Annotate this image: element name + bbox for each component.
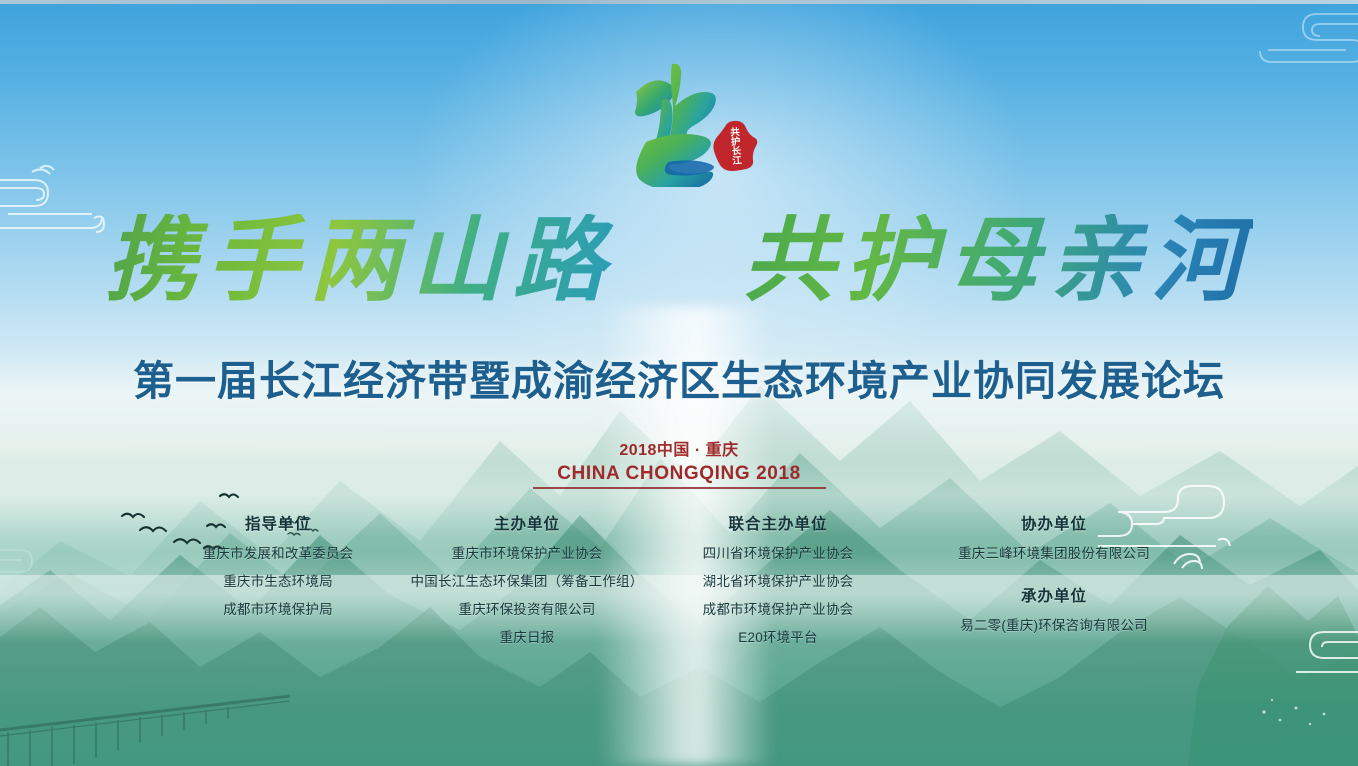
organizer-item: 湖北省环境保护产业协会 [658, 570, 898, 590]
divider-rule [533, 487, 826, 489]
organizer-item: 中国长江生态环保集团（筹备工作组） [408, 570, 646, 590]
bridge [0, 690, 290, 766]
headline-part-2: 共护母亲河 [743, 214, 1253, 306]
organizer-item: 重庆市发展和改革委员会 [160, 542, 396, 562]
organizer-item: 重庆日报 [408, 626, 646, 646]
organizer-heading: 指导单位 [160, 512, 396, 534]
organizer-columns: 指导单位 重庆市发展和改革委员会 重庆市生态环境局 成都市环境保护局 主办单位 … [0, 512, 1358, 642]
date-location-en: CHINA CHONGQING 2018 [0, 463, 1358, 485]
headline-part-1: 携手两山路 [105, 214, 615, 306]
organizer-item: 重庆市生态环境局 [160, 570, 396, 590]
poster-canvas: 共护长江 携手两山路 共护母亲河 第一届长江经济带暨成渝经济区生态环境产业协同发… [0, 0, 1358, 766]
organizer-heading: 联合主办单位 [658, 512, 898, 534]
forum-subtitle: 第一届长江经济带暨成渝经济区生态环境产业协同发展论坛 [0, 347, 1358, 407]
page-title: 携手两山路 共护母亲河 [0, 214, 1358, 306]
organizer-item: 四川省环境保护产业协会 [658, 542, 898, 562]
organizer-column-guidance: 指导单位 重庆市发展和改革委员会 重庆市生态环境局 成都市环境保护局 [154, 512, 402, 618]
organizer-heading-secondary: 承办单位 [910, 584, 1198, 606]
organizer-item: 重庆市环境保护产业协会 [408, 542, 646, 562]
organizer-column-host: 主办单位 重庆市环境保护产业协会 中国长江生态环保集团（筹备工作组） 重庆环保投… [402, 512, 652, 646]
organizer-item: 成都市环境保护产业协会 [658, 598, 898, 618]
organizer-item: E20环境平台 [658, 626, 898, 646]
organizer-item: 重庆三峰环境集团股份有限公司 [910, 542, 1198, 562]
red-seal-text: 共护长江 [708, 118, 760, 173]
date-location-cn: 2018中国 · 重庆 [0, 436, 1358, 460]
cloud-pattern-top-right [1212, 0, 1358, 114]
organizer-item: 成都市环境保护局 [160, 598, 396, 618]
top-edge-strip [0, 0, 1358, 4]
organizer-item: 重庆环保投资有限公司 [408, 598, 646, 618]
red-seal: 共护长江 [710, 120, 758, 172]
yangtze-brush-logo: 共护长江 [592, 52, 782, 187]
date-location-block: 2018中国 · 重庆 CHINA CHONGQING 2018 [0, 436, 1358, 485]
organizer-heading: 协办单位 [910, 512, 1198, 534]
organizer-column-co-host: 联合主办单位 四川省环境保护产业协会 湖北省环境保护产业协会 成都市环境保护产业… [652, 512, 904, 646]
organizer-heading: 主办单位 [408, 512, 646, 534]
organizer-item: 易二零(重庆)环保咨询有限公司 [910, 614, 1198, 634]
organizer-column-support: 协办单位 重庆三峰环境集团股份有限公司 承办单位 易二零(重庆)环保咨询有限公司 [904, 512, 1204, 634]
